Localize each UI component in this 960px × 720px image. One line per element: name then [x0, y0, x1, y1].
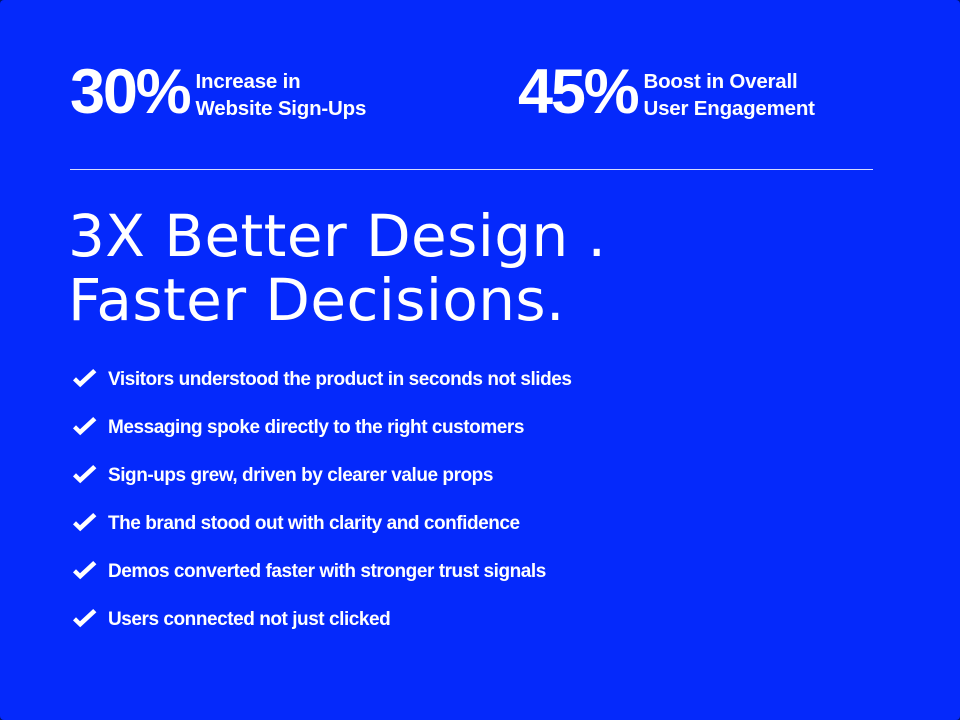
- check-icon: [70, 417, 100, 439]
- stats-row: 30% Increase in Website Sign-Ups 45% Boo…: [70, 60, 890, 140]
- list-item-label: Demos converted faster with stronger tru…: [108, 561, 546, 583]
- stat-value: 45%: [518, 60, 638, 124]
- stat-block-engagement: 45% Boost in Overall User Engagement: [518, 60, 815, 124]
- list-item: Users connected not just clicked: [70, 606, 870, 634]
- list-item: Visitors understood the product in secon…: [70, 366, 870, 394]
- presentation-slide: 30% Increase in Website Sign-Ups 45% Boo…: [0, 0, 960, 720]
- benefits-list: Visitors understood the product in secon…: [70, 366, 870, 634]
- stat-value: 30%: [70, 60, 190, 124]
- horizontal-divider: [70, 169, 873, 170]
- list-item-label: Visitors understood the product in secon…: [108, 369, 572, 391]
- list-item-label: Users connected not just clicked: [108, 609, 390, 631]
- list-item: Demos converted faster with stronger tru…: [70, 558, 870, 586]
- stat-label: Increase in Website Sign-Ups: [196, 60, 367, 122]
- stat-block-signups: 30% Increase in Website Sign-Ups: [70, 60, 366, 124]
- list-item-label: The brand stood out with clarity and con…: [108, 513, 520, 535]
- check-icon: [70, 609, 100, 631]
- list-item-label: Sign-ups grew, driven by clearer value p…: [108, 465, 493, 487]
- list-item-label: Messaging spoke directly to the right cu…: [108, 417, 524, 439]
- page-title: 3X Better Design . Faster Decisions.: [68, 204, 606, 332]
- list-item: Sign-ups grew, driven by clearer value p…: [70, 462, 870, 490]
- list-item: Messaging spoke directly to the right cu…: [70, 414, 870, 442]
- list-item: The brand stood out with clarity and con…: [70, 510, 870, 538]
- check-icon: [70, 369, 100, 391]
- check-icon: [70, 561, 100, 583]
- stat-label: Boost in Overall User Engagement: [644, 60, 815, 122]
- check-icon: [70, 513, 100, 535]
- check-icon: [70, 465, 100, 487]
